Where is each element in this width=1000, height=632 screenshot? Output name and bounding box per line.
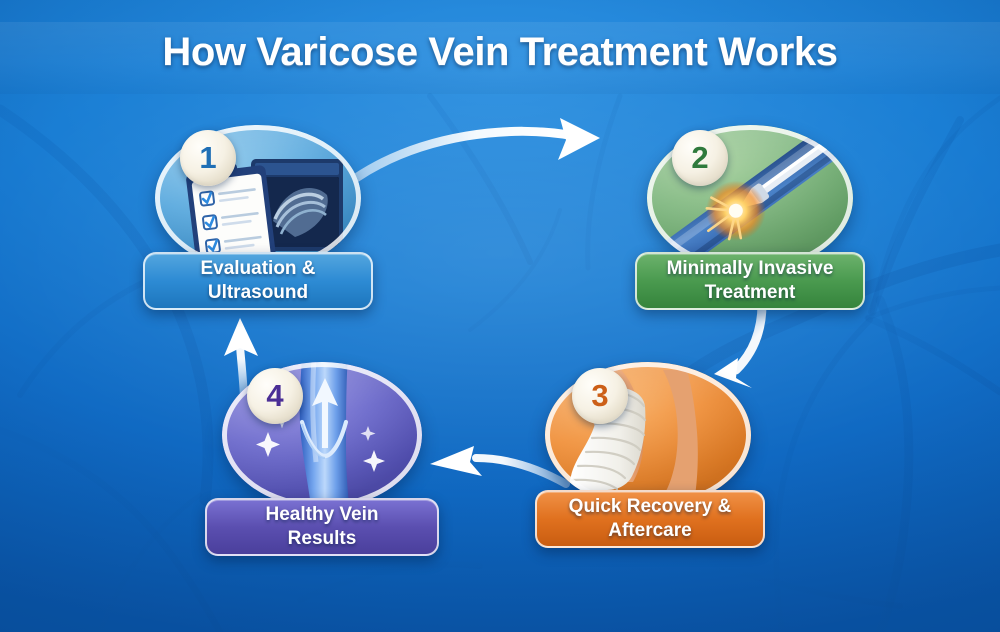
vignette-overlay — [0, 0, 1000, 632]
vein-texture-background — [0, 0, 1000, 632]
step-4-label-text: Healthy Vein Results — [266, 503, 379, 551]
arrow-step1-to-step2 — [352, 118, 622, 190]
step-3-label-text: Quick Recovery & Aftercare — [569, 495, 732, 543]
step-1-label-text: Evaluation & Ultrasound — [200, 257, 315, 305]
step-4-number: 4 — [266, 378, 283, 414]
step-3-label[interactable]: Quick Recovery & Aftercare — [535, 490, 765, 548]
step-4-label[interactable]: Healthy Vein Results — [205, 498, 439, 556]
step-3-number: 3 — [591, 378, 608, 414]
step-1-label[interactable]: Evaluation & Ultrasound — [143, 252, 373, 310]
step-2-number: 2 — [691, 140, 708, 176]
step-1-number-badge: 1 — [180, 130, 236, 186]
step-2-number-badge: 2 — [672, 130, 728, 186]
step-2-label[interactable]: Minimally Invasive Treatment — [635, 252, 865, 310]
page-title: How Varicose Vein Treatment Works — [0, 30, 1000, 75]
step-4-number-badge: 4 — [247, 368, 303, 424]
infographic-canvas: How Varicose Vein Treatment Works — [0, 0, 1000, 632]
step-1-number: 1 — [199, 140, 216, 176]
step-2-label-text: Minimally Invasive Treatment — [667, 257, 834, 305]
step-3-number-badge: 3 — [572, 368, 628, 424]
